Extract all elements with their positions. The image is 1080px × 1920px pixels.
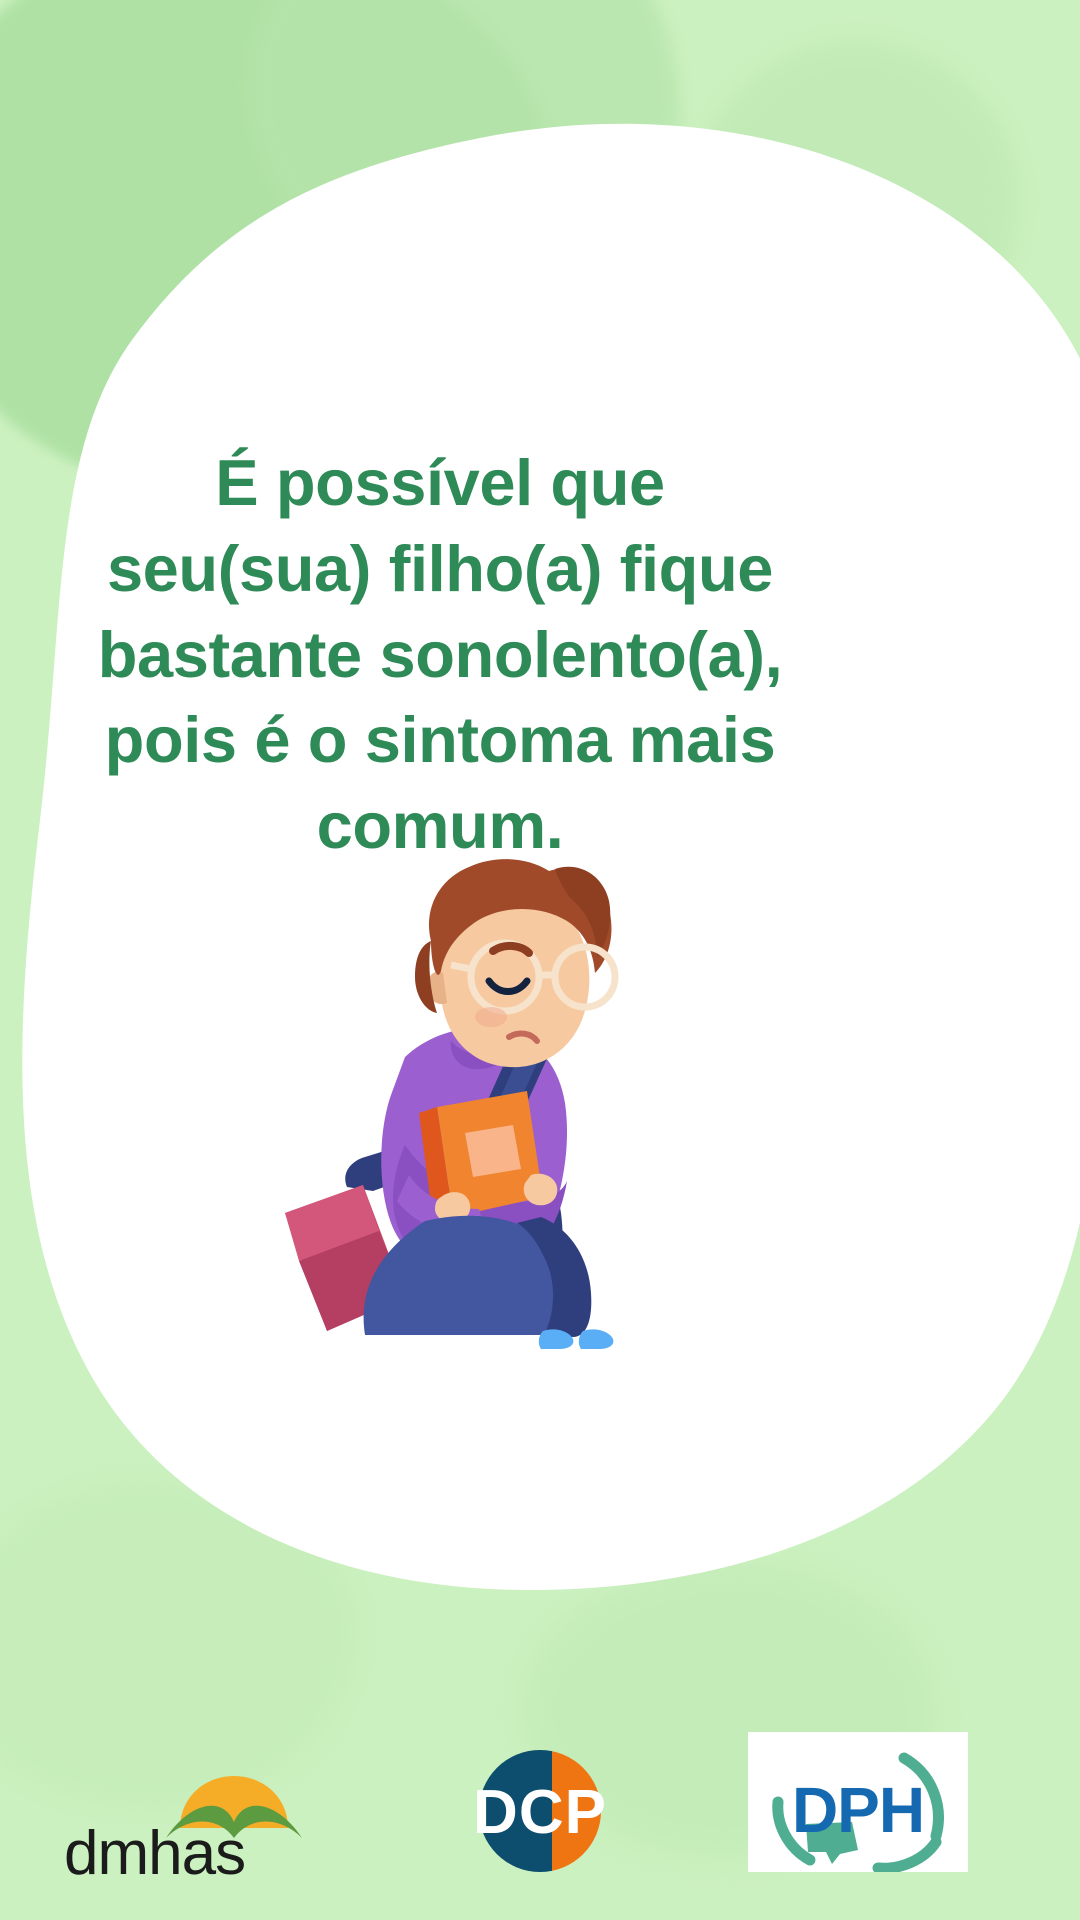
dph-wordmark: DPH — [792, 1774, 924, 1846]
dph-logo[interactable]: DPH — [748, 1732, 968, 1872]
dcp-logo[interactable]: DCP — [440, 1750, 640, 1872]
page-headline: É possível que seu(sua) filho(a) fique b… — [48, 440, 832, 869]
logo-bar: dmhas DCP DPH — [0, 1690, 1080, 1920]
dcp-wordmark: DCP — [473, 1778, 607, 1847]
illustration-sad-boy — [255, 845, 675, 1365]
poster-canvas: É possível que seu(sua) filho(a) fique b… — [0, 0, 1080, 1920]
dmhas-wordmark: dmhas — [64, 1819, 245, 1882]
dmhas-logo[interactable]: dmhas — [62, 1742, 312, 1882]
